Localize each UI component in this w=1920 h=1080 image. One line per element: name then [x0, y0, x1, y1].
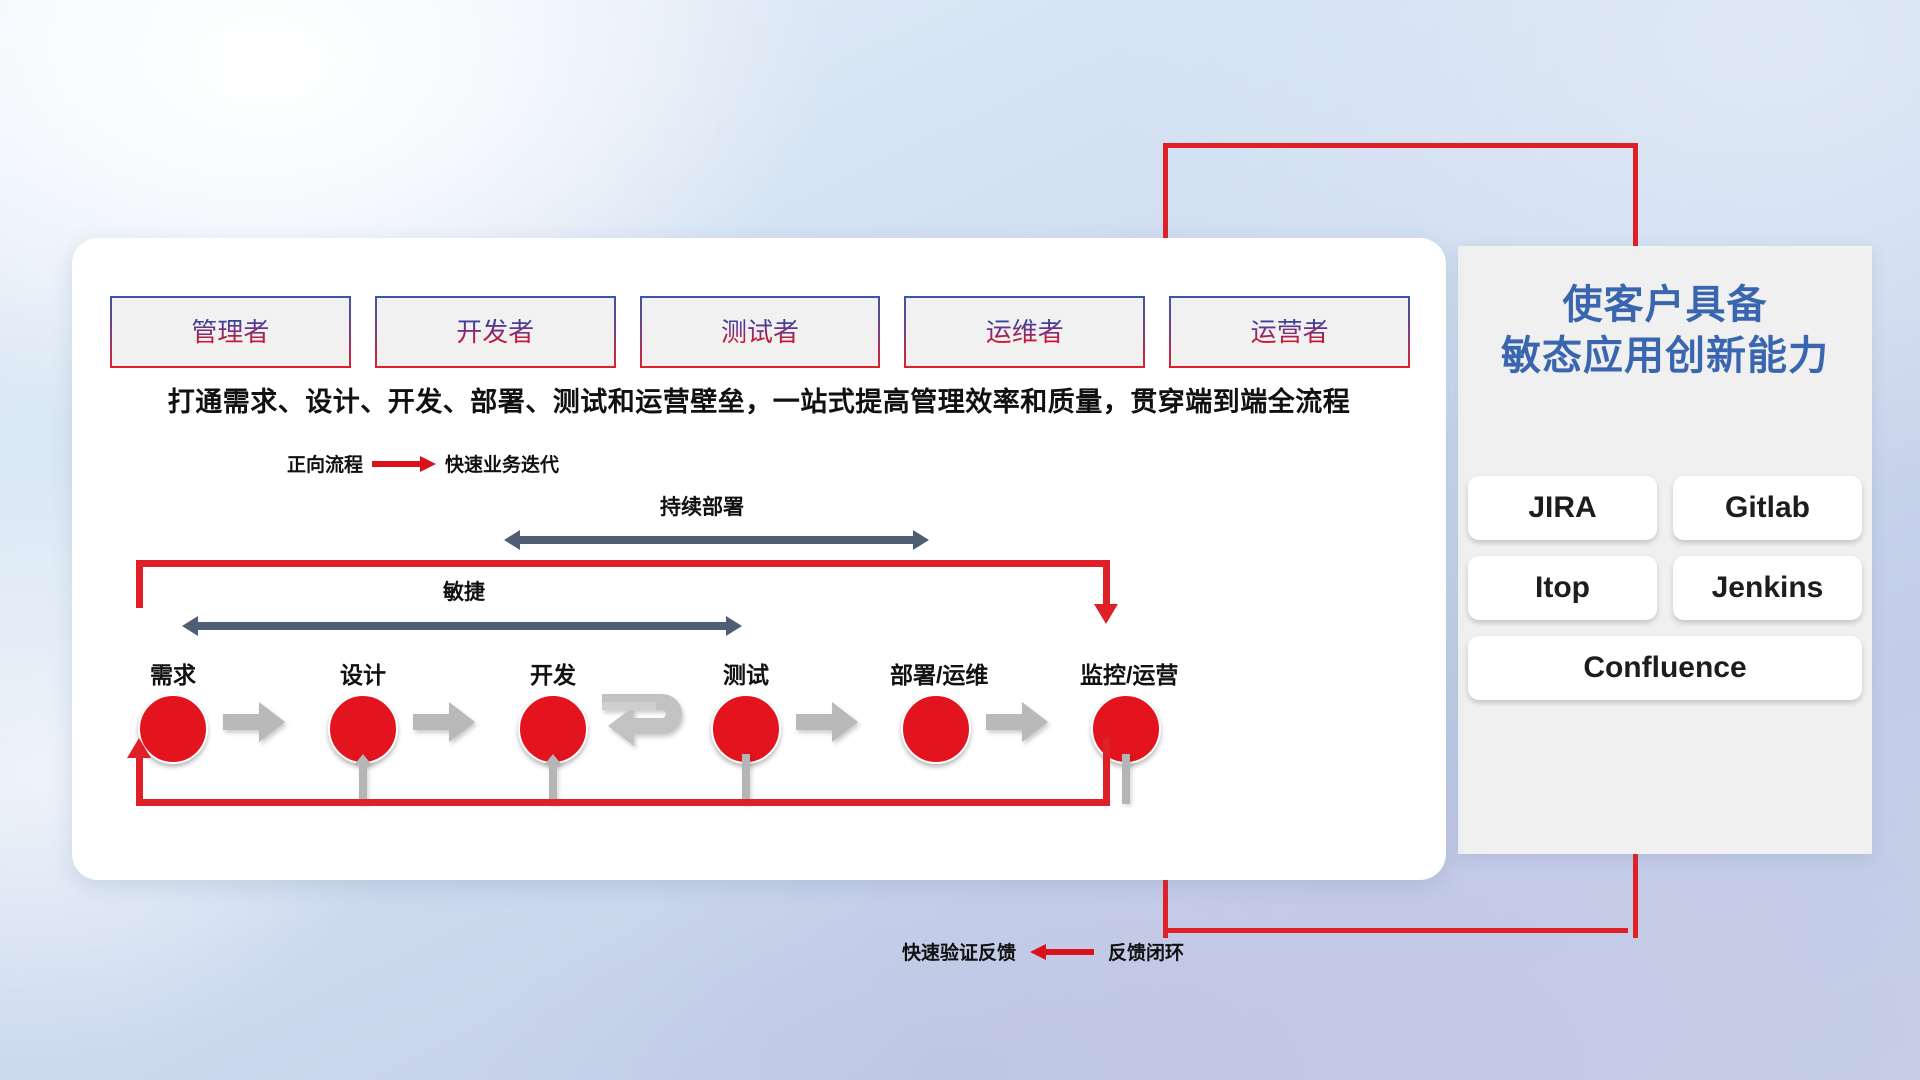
loop-back-arrow-icon	[600, 688, 696, 760]
stage-label: 部署/运维	[890, 656, 982, 690]
legend-forward-flow: 正向流程 快速业务迭代	[287, 450, 559, 477]
stage-testing[interactable]: 测试	[700, 656, 792, 764]
legend-feedback-loop: 快速验证反馈 反馈闭环	[902, 938, 1184, 965]
legend-forward-left-label: 正向流程	[287, 450, 363, 477]
tool-chip-jira[interactable]: JIRA	[1468, 476, 1657, 540]
double-arrow-agile	[182, 616, 742, 636]
red-loop-right-descender	[1103, 560, 1110, 606]
panel-title: 使客户具备 敏态应用创新能力	[1458, 246, 1872, 382]
feedback-feed-arrow-design	[354, 754, 372, 804]
stage-development[interactable]: 开发	[507, 656, 599, 764]
stage-label: 测试	[700, 656, 792, 690]
stage-deploy-ops[interactable]: 部署/运维	[890, 656, 982, 764]
stage-label: 开发	[507, 656, 599, 690]
tool-chip-list: JIRA Gitlab Itop Jenkins Confluence	[1468, 476, 1862, 700]
stage-label: 设计	[317, 656, 409, 690]
role-chip-row: 管理者 开发者 测试者 运维者 运营者	[110, 296, 1410, 368]
double-arrow-continuous-deploy	[504, 530, 929, 550]
tool-chip-itop[interactable]: Itop	[1468, 556, 1657, 620]
panel-title-line1: 使客户具备	[1458, 280, 1872, 331]
legend-feedback-left-label: 快速验证反馈	[902, 938, 1016, 965]
feedback-feed-arrow-development	[544, 754, 562, 804]
tool-chip-confluence[interactable]: Confluence	[1468, 636, 1862, 700]
red-arrow-right-icon	[372, 459, 436, 469]
role-chip-operations[interactable]: 运营者	[1169, 296, 1410, 368]
flow-arrow-icon-5	[986, 702, 1048, 742]
flow-arrow-icon-4	[796, 702, 858, 742]
red-loop-top-rail	[136, 560, 1110, 567]
legend-forward-right-label: 快速业务迭代	[445, 450, 559, 477]
tool-chip-jenkins[interactable]: Jenkins	[1673, 556, 1862, 620]
red-loop-left-riser	[136, 560, 143, 608]
stage-design[interactable]: 设计	[317, 656, 409, 764]
stage-label: 监控/运营	[1080, 656, 1172, 690]
role-chip-tester[interactable]: 测试者	[640, 296, 881, 368]
role-chip-developer[interactable]: 开发者	[375, 296, 616, 368]
red-loop-bottom-rail	[136, 799, 1110, 806]
stage-node-icon	[901, 694, 971, 764]
span-label-agile: 敏捷	[443, 576, 485, 606]
red-loop-up-arrowhead-icon	[127, 738, 151, 758]
capability-panel: 使客户具备 敏态应用创新能力 JIRA Gitlab Itop Jenkins …	[1458, 246, 1872, 854]
role-chip-label: 开发者	[456, 319, 534, 345]
span-label-continuous-deploy: 持续部署	[660, 491, 744, 521]
role-chip-manager[interactable]: 管理者	[110, 296, 351, 368]
stage-label: 需求	[127, 656, 219, 690]
red-loop-bottom-right-riser	[1103, 738, 1110, 806]
tool-chip-gitlab[interactable]: Gitlab	[1673, 476, 1862, 540]
role-chip-label: 运营者	[1251, 319, 1329, 345]
devops-flow-card: 管理者 开发者 测试者 运维者 运营者 打通需求、设计、开发、部署、测试和运营壁…	[72, 238, 1446, 880]
outer-red-connector-frame-bottom	[1163, 928, 1628, 933]
red-loop-bottom-left-riser	[136, 758, 143, 806]
legend-feedback-right-label: 反馈闭环	[1108, 938, 1184, 965]
role-chip-ops[interactable]: 运维者	[904, 296, 1145, 368]
flow-arrow-icon-1	[223, 702, 285, 742]
feedback-feed-line-testing	[737, 754, 755, 804]
panel-title-line2: 敏态应用创新能力	[1458, 331, 1872, 382]
headline-text: 打通需求、设计、开发、部署、测试和运营壁垒，一站式提高管理效率和质量，贯穿端到端…	[72, 380, 1446, 419]
feedback-feed-line-monitor	[1117, 754, 1135, 804]
stage-monitor-operate[interactable]: 监控/运营	[1080, 656, 1172, 764]
flow-arrow-icon-2	[413, 702, 475, 742]
role-chip-label: 测试者	[721, 319, 799, 345]
red-loop-down-arrowhead-icon	[1094, 604, 1118, 624]
role-chip-label: 管理者	[191, 319, 269, 345]
red-arrow-left-icon	[1030, 947, 1094, 957]
role-chip-label: 运维者	[986, 319, 1064, 345]
